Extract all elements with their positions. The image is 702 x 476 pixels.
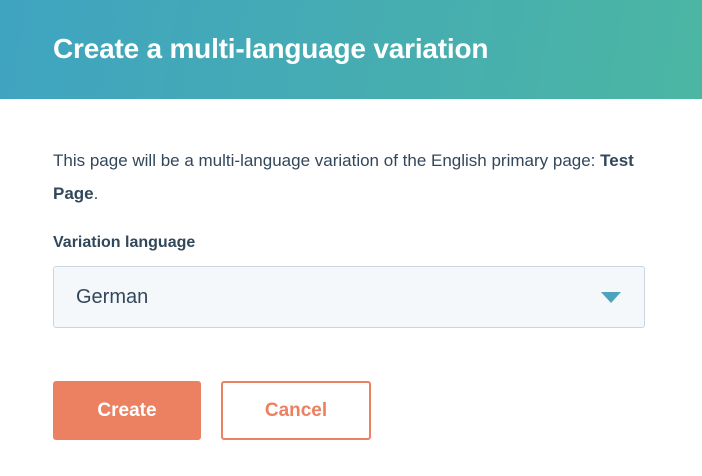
page-title: Create a multi-language variation (53, 30, 488, 68)
description-text: This page will be a multi-language varia… (53, 144, 653, 210)
variation-language-select[interactable]: German (53, 266, 645, 328)
create-button[interactable]: Create (53, 381, 201, 440)
chevron-down-icon[interactable] (601, 292, 621, 303)
description-tail: . (94, 184, 99, 203)
variation-language-field: Variation language German (53, 232, 645, 328)
variation-language-selected-value: German (76, 267, 148, 327)
create-variation-dialog: Create a multi-language variation This p… (0, 0, 702, 476)
dialog-header: Create a multi-language variation (0, 0, 702, 99)
dialog-body: This page will be a multi-language varia… (0, 99, 702, 476)
description-lead: This page will be a multi-language varia… (53, 151, 600, 170)
variation-language-label: Variation language (53, 232, 645, 254)
cancel-button[interactable]: Cancel (221, 381, 371, 440)
dialog-actions: Create Cancel (53, 381, 371, 440)
